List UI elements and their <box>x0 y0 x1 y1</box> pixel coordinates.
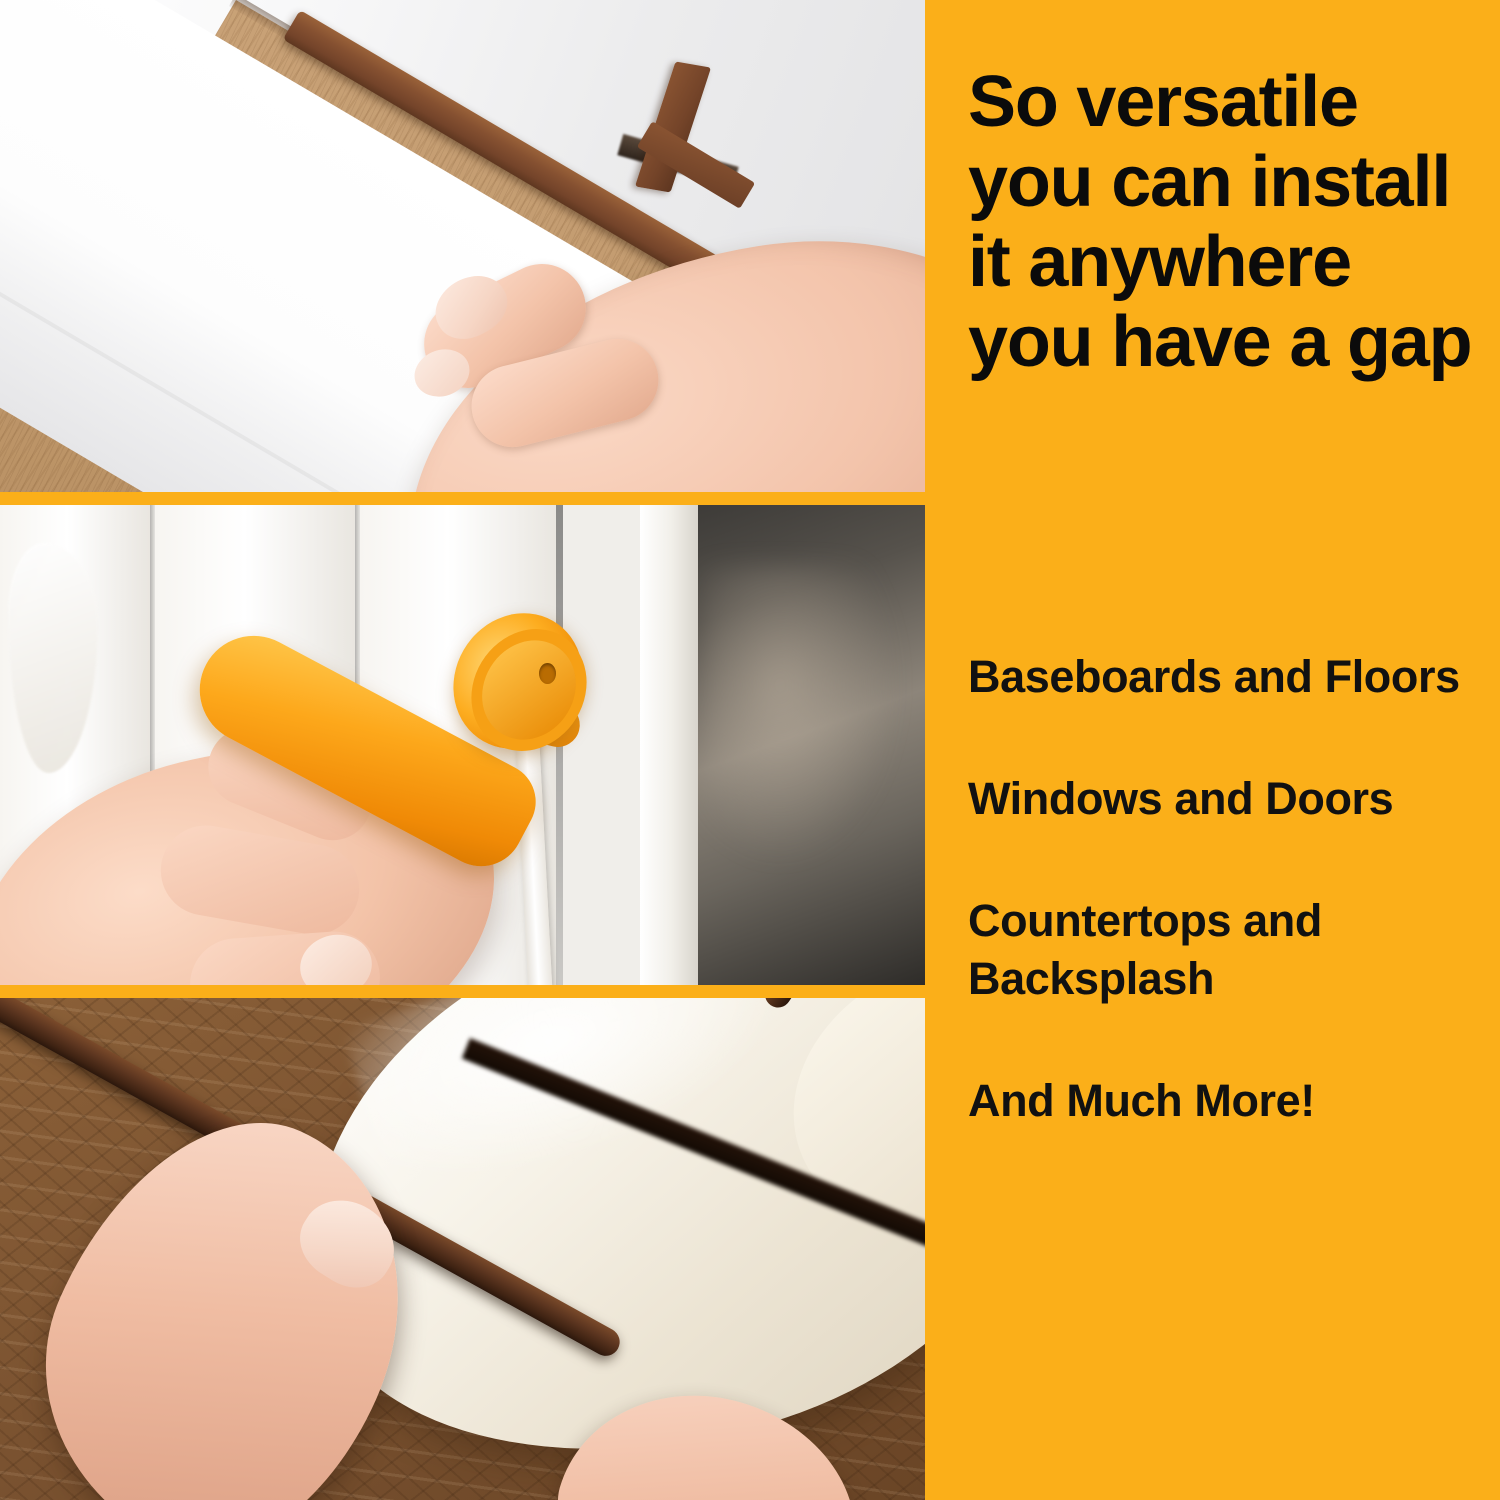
applicator-tool-hole <box>539 663 556 684</box>
feature-list: Baseboards and Floors Windows and Doors … <box>968 648 1488 1130</box>
feature-item-countertops: Countertops and Backsplash <box>968 892 1488 1008</box>
window-jamb <box>640 505 698 985</box>
feature-item-and-much-more: And Much More! <box>968 1072 1488 1130</box>
feature-item-windows: Windows and Doors <box>968 770 1488 828</box>
glass-reflection <box>700 565 900 865</box>
countertop-install-photo <box>0 998 925 1500</box>
window-install-photo <box>0 505 925 985</box>
text-panel: So versatile you can install it anywhere… <box>925 0 1500 1500</box>
headline: So versatile you can install it anywhere… <box>968 62 1478 382</box>
feature-item-baseboards: Baseboards and Floors <box>968 648 1488 706</box>
product-feature-graphic: So versatile you can install it anywhere… <box>0 0 1500 1500</box>
photo-column <box>0 0 925 1500</box>
baseboard-install-photo <box>0 0 925 492</box>
